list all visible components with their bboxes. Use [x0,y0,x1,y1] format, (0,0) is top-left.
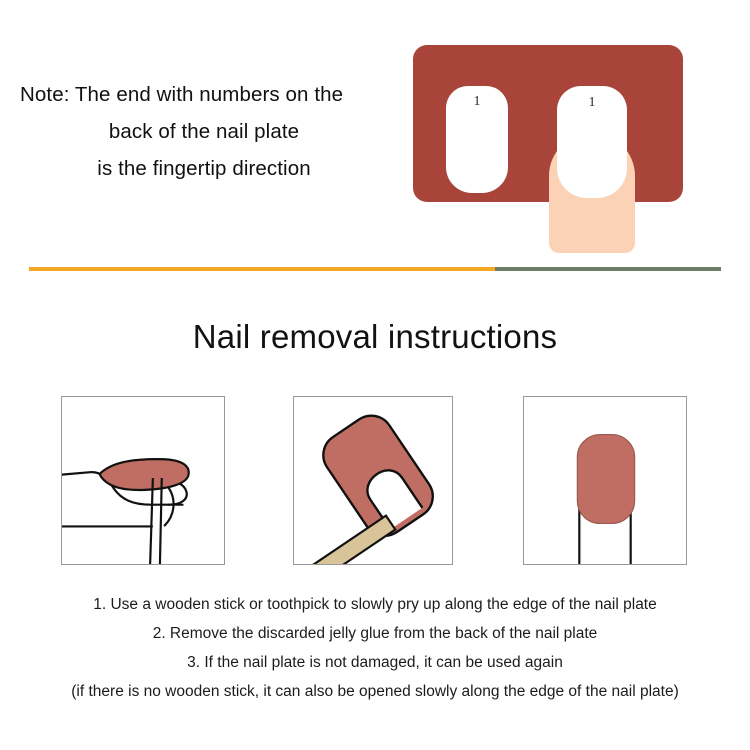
instruction-panels [0,396,750,568]
instruction-line-4: (if there is no wooden stick, it can als… [0,677,750,706]
divider-segment-green [495,267,721,271]
note-line-3: is the fingertip direction [18,150,390,187]
section-divider [29,267,721,271]
page-title: Nail removal instructions [0,318,750,356]
divider-segment-orange [29,267,495,271]
instruction-line-2: 2. Remove the discarded jelly glue from … [0,619,750,648]
panel-reuse-nail-plate [523,396,687,565]
nail-plate-card-illustration: 1 1 [413,45,683,202]
note-text-block: Note: The end with numbers on the back o… [18,76,390,187]
nail-chip-back: 1 [446,86,508,193]
panel-remove-jelly-glue [293,396,453,565]
instruction-line-1: 1. Use a wooden stick or toothpick to sl… [0,590,750,619]
nail-chip-on-finger: 1 [557,86,627,198]
instruction-list: 1. Use a wooden stick or toothpick to sl… [0,590,750,706]
instruction-line-3: 3. If the nail plate is not damaged, it … [0,648,750,677]
note-line-1: Note: The end with numbers on the [18,76,390,113]
nail-chip-on-finger-number: 1 [557,95,627,111]
note-section: Note: The end with numbers on the back o… [0,0,750,250]
note-line-2: back of the nail plate [18,113,390,150]
nail-chip-back-number: 1 [446,94,508,110]
panel-pry-up-nail [61,396,225,565]
